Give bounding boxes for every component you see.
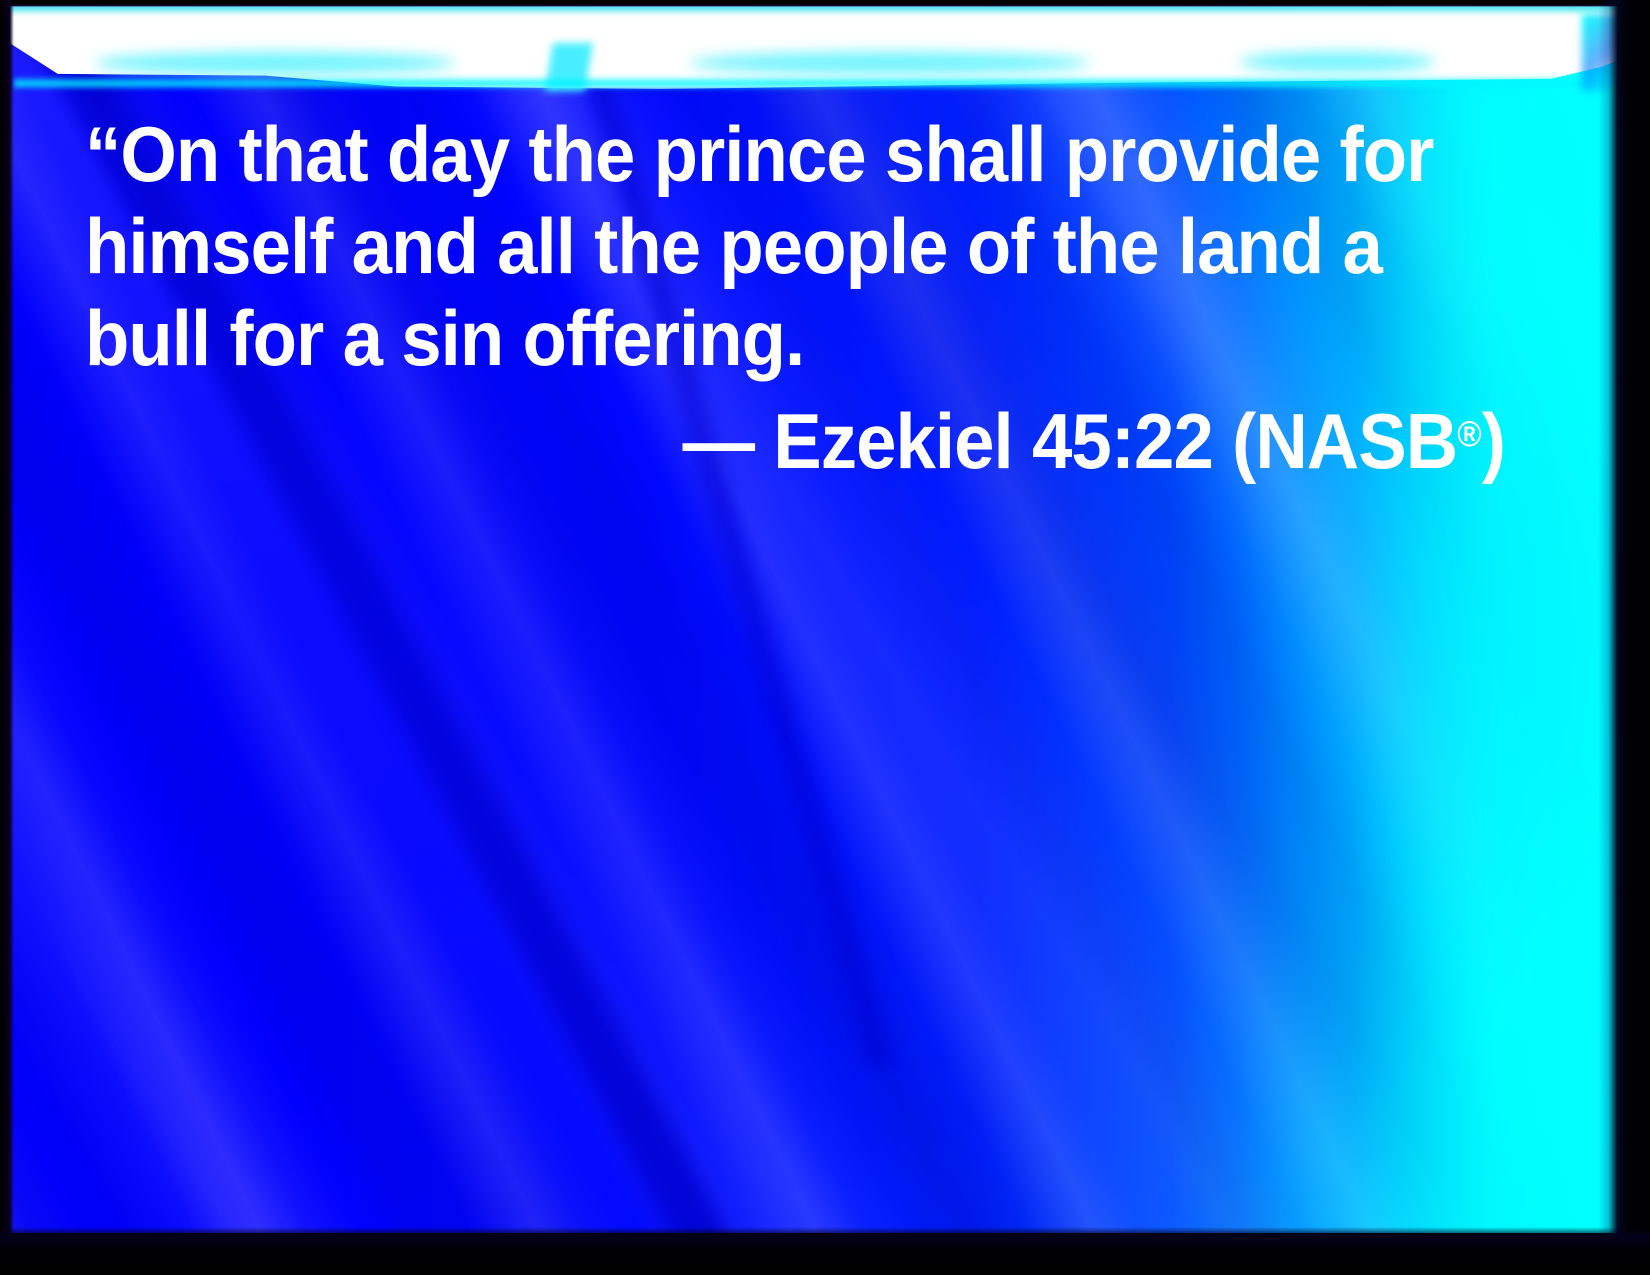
attribution-book: Ezekiel [773,397,1012,485]
glow-band-top-cyan-edge [0,5,1650,15]
verse-line-3: bull for a sin offering. [85,292,1406,384]
verse-text-block: “On that day the prince shall provide fo… [85,108,1505,487]
attribution-dash: — [682,397,754,485]
frame-border-bottom [0,1227,1650,1275]
glow-highlight-blob-center [690,52,1090,74]
glow-highlight-blob-left [95,52,455,74]
verse-attribution: — Ezekiel 45:22 (NASB®) [184,384,1505,487]
glow-band-bottom-cyan-edge [14,76,1620,90]
attribution-open-paren: ( [1232,397,1255,485]
glow-band-right-taper [1582,14,1642,92]
attribution-close-paren: ) [1482,397,1505,485]
attribution-chapter-verse: 45:22 [1032,397,1213,485]
attribution-translation: NASB [1255,397,1457,485]
glow-highlight-blob-right [1240,52,1435,72]
registered-trademark-icon: ® [1457,414,1482,454]
verse-line-1: “On that day the prince shall provide fo… [85,108,1406,200]
verse-line-2: himself and all the people of the land a [85,200,1406,292]
scripture-slide: “On that day the prince shall provide fo… [0,0,1650,1275]
